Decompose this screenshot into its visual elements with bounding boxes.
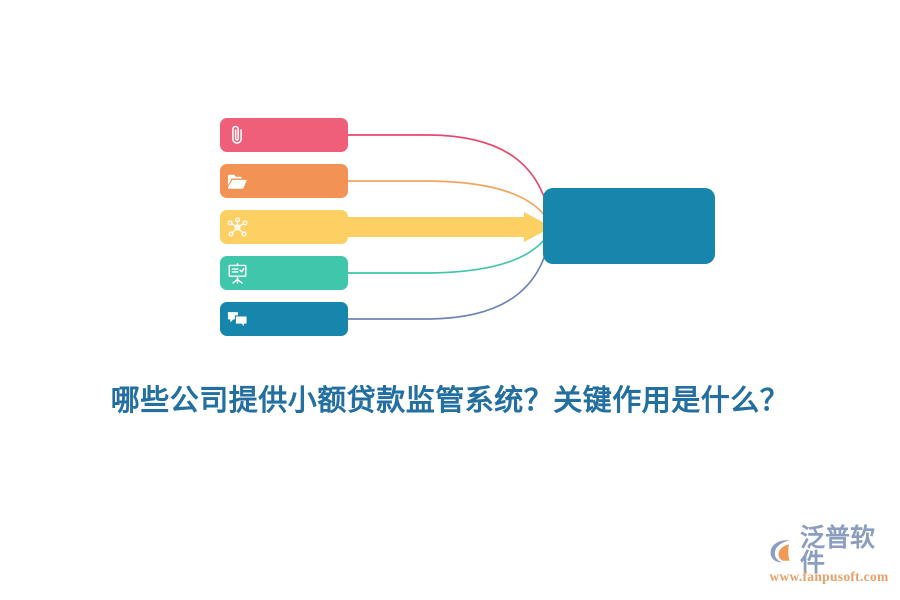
fanpu-logo-mark-icon (766, 535, 798, 567)
connector-network-arrow (348, 212, 552, 242)
presentation-board-icon (220, 256, 254, 290)
network-hub-icon (220, 210, 254, 244)
diagram-item-presentation[interactable] (220, 256, 348, 290)
page-title: 哪些公司提供小额贷款监管系统？关键作用是什么？ (0, 377, 900, 419)
infographic-stage: 哪些公司提供小额贷款监管系统？关键作用是什么？ 泛普软件 www.fanpuso… (0, 0, 900, 600)
paperclip-icon (220, 118, 254, 152)
chat-bubbles-icon (220, 302, 254, 336)
connector-chat (348, 231, 551, 319)
diagram-item-network[interactable] (220, 210, 348, 244)
result-box[interactable] (543, 188, 715, 264)
brand-logo-row: 泛普软件 (766, 534, 892, 568)
folder-icon (220, 164, 254, 198)
diagram-item-chat[interactable] (220, 302, 348, 336)
brand-logo[interactable]: 泛普软件 www.fanpusoft.com (766, 534, 892, 586)
diagram-item-attachment[interactable] (220, 118, 348, 152)
connector-attachment (348, 135, 551, 224)
connector-diagram (0, 0, 900, 600)
diagram-item-folder[interactable] (220, 164, 348, 198)
brand-url: www.fanpusoft.com (766, 569, 892, 585)
